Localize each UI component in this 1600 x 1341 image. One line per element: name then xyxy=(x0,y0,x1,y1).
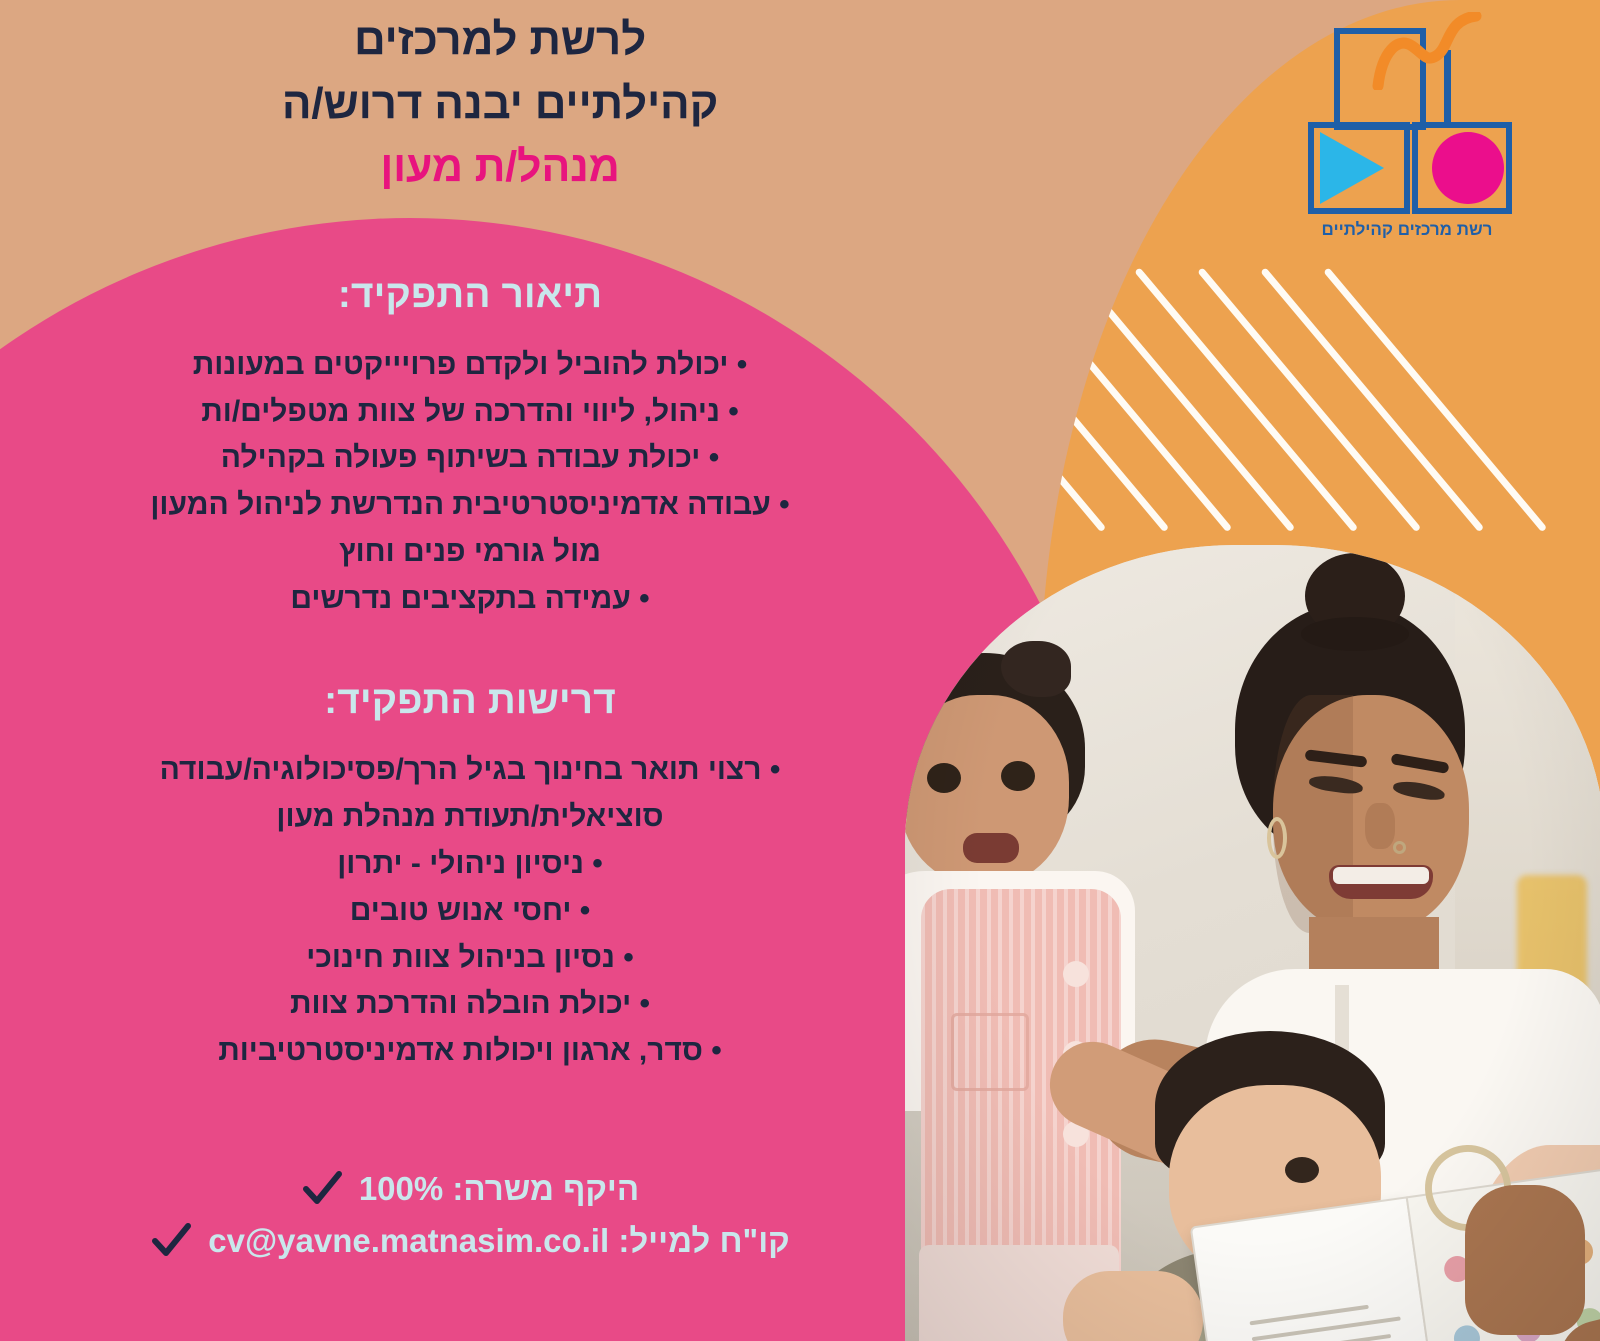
list-item: • יכולת הובלה והדרכת צוות xyxy=(40,984,900,1031)
job-requirements-title: דרישות התפקיד: xyxy=(40,678,900,725)
diagonal-stripes-decoration xyxy=(1100,260,1600,530)
scope-row: היקף משרה: 100% xyxy=(40,1168,900,1210)
cyan-triangle-icon xyxy=(1320,132,1384,204)
cv-email-text[interactable]: קו"ח למייל: cv@yavne.matnasim.co.il xyxy=(208,1222,789,1260)
job-details: תיאור התפקיד: • יכולת להוביל ולקדם פרויי… xyxy=(40,272,900,1078)
stripe-line xyxy=(1071,267,1295,532)
cv-email-address[interactable]: cv@yavne.matnasim.co.il xyxy=(208,1222,609,1260)
list-item: • ניהול, ליווי והדרכה של צוות מטפלים/ות xyxy=(40,392,900,439)
cv-email-row[interactable]: קו"ח למייל: cv@yavne.matnasim.co.il xyxy=(40,1220,900,1262)
stripe-line xyxy=(1323,267,1547,532)
stripe-line xyxy=(1197,267,1421,532)
page-title: לרשת למרכזים קהילתיים יבנה דרוש/ה מנהל/ת… xyxy=(150,8,850,198)
stripe-line xyxy=(1040,267,1106,532)
list-item: • ניסיון ניהולי - יתרון xyxy=(40,844,900,891)
stripe-line xyxy=(1260,267,1484,532)
list-item: • יכולת עבודה בשיתוף פעולה בקהילה xyxy=(40,438,900,485)
logo-text: רשת מרכזים קהילתיים xyxy=(1292,220,1522,240)
list-item: • נסיון בניהול צוות חינוכי xyxy=(40,938,900,985)
headline-role: מנהל/ת מעון xyxy=(150,136,850,198)
magenta-circle-icon xyxy=(1432,132,1504,204)
list-item: • יכולת להוביל ולקדם פרויייקטים במעונות xyxy=(40,345,900,392)
stripe-line xyxy=(1134,267,1358,532)
footer-details: היקף משרה: 100% קו"ח למייל: cv@yavne.mat… xyxy=(40,1168,900,1272)
list-item: • רצוי תואר בחינוך בגיל הרך/פסיכולוגיה/ע… xyxy=(40,750,900,797)
check-icon xyxy=(150,1220,192,1262)
headline-line-1: לרשת למרכזים xyxy=(150,8,850,72)
job-description-list: • יכולת להוביל ולקדם פרויייקטים במעונות … xyxy=(40,345,900,626)
list-item: • עמידה בתקציבים נדרשים xyxy=(40,579,900,626)
job-posting-poster: רשת מרכזים קהילתיים לרשת למרכזים קהילתיי… xyxy=(0,0,1600,1341)
job-requirements-list: • רצוי תואר בחינוך בגיל הרך/פסיכולוגיה/ע… xyxy=(40,750,900,1078)
scope-text: היקף משרה: 100% xyxy=(359,1170,639,1208)
list-item: מול גורמי פנים וחוץ xyxy=(40,532,900,579)
organization-logo: רשת מרכזים קהילתיים xyxy=(1292,14,1522,254)
orange-wave-icon xyxy=(1372,12,1492,90)
check-icon xyxy=(301,1168,343,1210)
list-item: • סדר, ארגון ויכולות אדמיניסטרטיביות xyxy=(40,1031,900,1078)
list-item: • עבודה אדמיניסטרטיבית הנדרשת לניהול המע… xyxy=(40,485,900,532)
headline-line-2: קהילתיים יבנה דרוש/ה xyxy=(150,72,850,136)
list-item: • יחסי אנוש טובים xyxy=(40,891,900,938)
caregiver-reading-book-with-toddlers-photo xyxy=(905,545,1600,1341)
list-item: סוציאלית/תעודת מנהלת מעון xyxy=(40,797,900,844)
cv-label: קו"ח למייל: xyxy=(618,1222,789,1259)
job-description-title: תיאור התפקיד: xyxy=(40,272,900,319)
